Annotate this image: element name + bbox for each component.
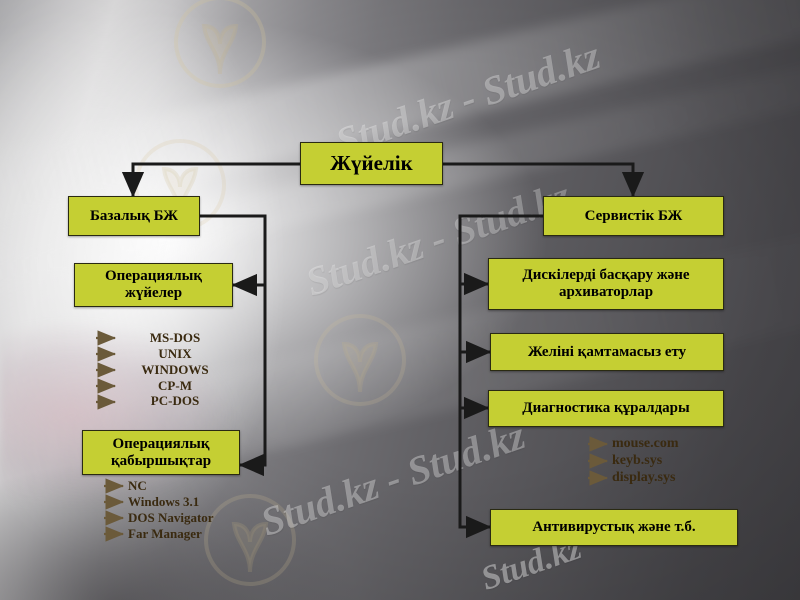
leaf-item: mouse.com <box>612 436 752 453</box>
org-chart: Жүйелік Базалық БЖ Операциялық жүйелер О… <box>0 0 800 600</box>
node-operating-systems[interactable]: Операциялық жүйелер <box>74 263 233 307</box>
leaf-item: Far Manager <box>128 526 258 542</box>
node-operating-shells[interactable]: Операциялық қабыршықтар <box>82 430 240 475</box>
leaf-item: NC <box>128 478 258 494</box>
node-service-software[interactable]: Сервистік БЖ <box>543 196 724 236</box>
node-base-software[interactable]: Базалық БЖ <box>68 196 200 236</box>
leaf-item: PC-DOS <box>120 393 230 409</box>
leaf-list-operating-shells: NC Windows 3.1 DOS Navigator Far Manager <box>128 478 258 541</box>
leaf-item: Windows 3.1 <box>128 494 258 510</box>
node-antivirus[interactable]: Антивирустық және т.б. <box>490 509 738 546</box>
leaf-item: WINDOWS <box>120 362 230 378</box>
leaf-item: keyb.sys <box>612 453 752 470</box>
node-diagnostic-tools[interactable]: Диагностика құралдары <box>488 390 724 427</box>
node-network-support[interactable]: Желіні қамтамасыз ету <box>490 333 724 371</box>
leaf-item: CP-M <box>120 378 230 394</box>
node-root[interactable]: Жүйелік <box>300 142 443 185</box>
leaf-list-diagnostic-tools: mouse.com keyb.sys display.sys <box>612 436 752 486</box>
leaf-item: UNIX <box>120 346 230 362</box>
leaf-item: DOS Navigator <box>128 510 258 526</box>
leaf-item: display.sys <box>612 470 752 487</box>
leaf-list-operating-systems: MS-DOS UNIX WINDOWS CP-M PC-DOS <box>120 330 230 409</box>
node-disk-management-archivers[interactable]: Дискілерді басқару және архиваторлар <box>488 258 724 310</box>
leaf-item: MS-DOS <box>120 330 230 346</box>
